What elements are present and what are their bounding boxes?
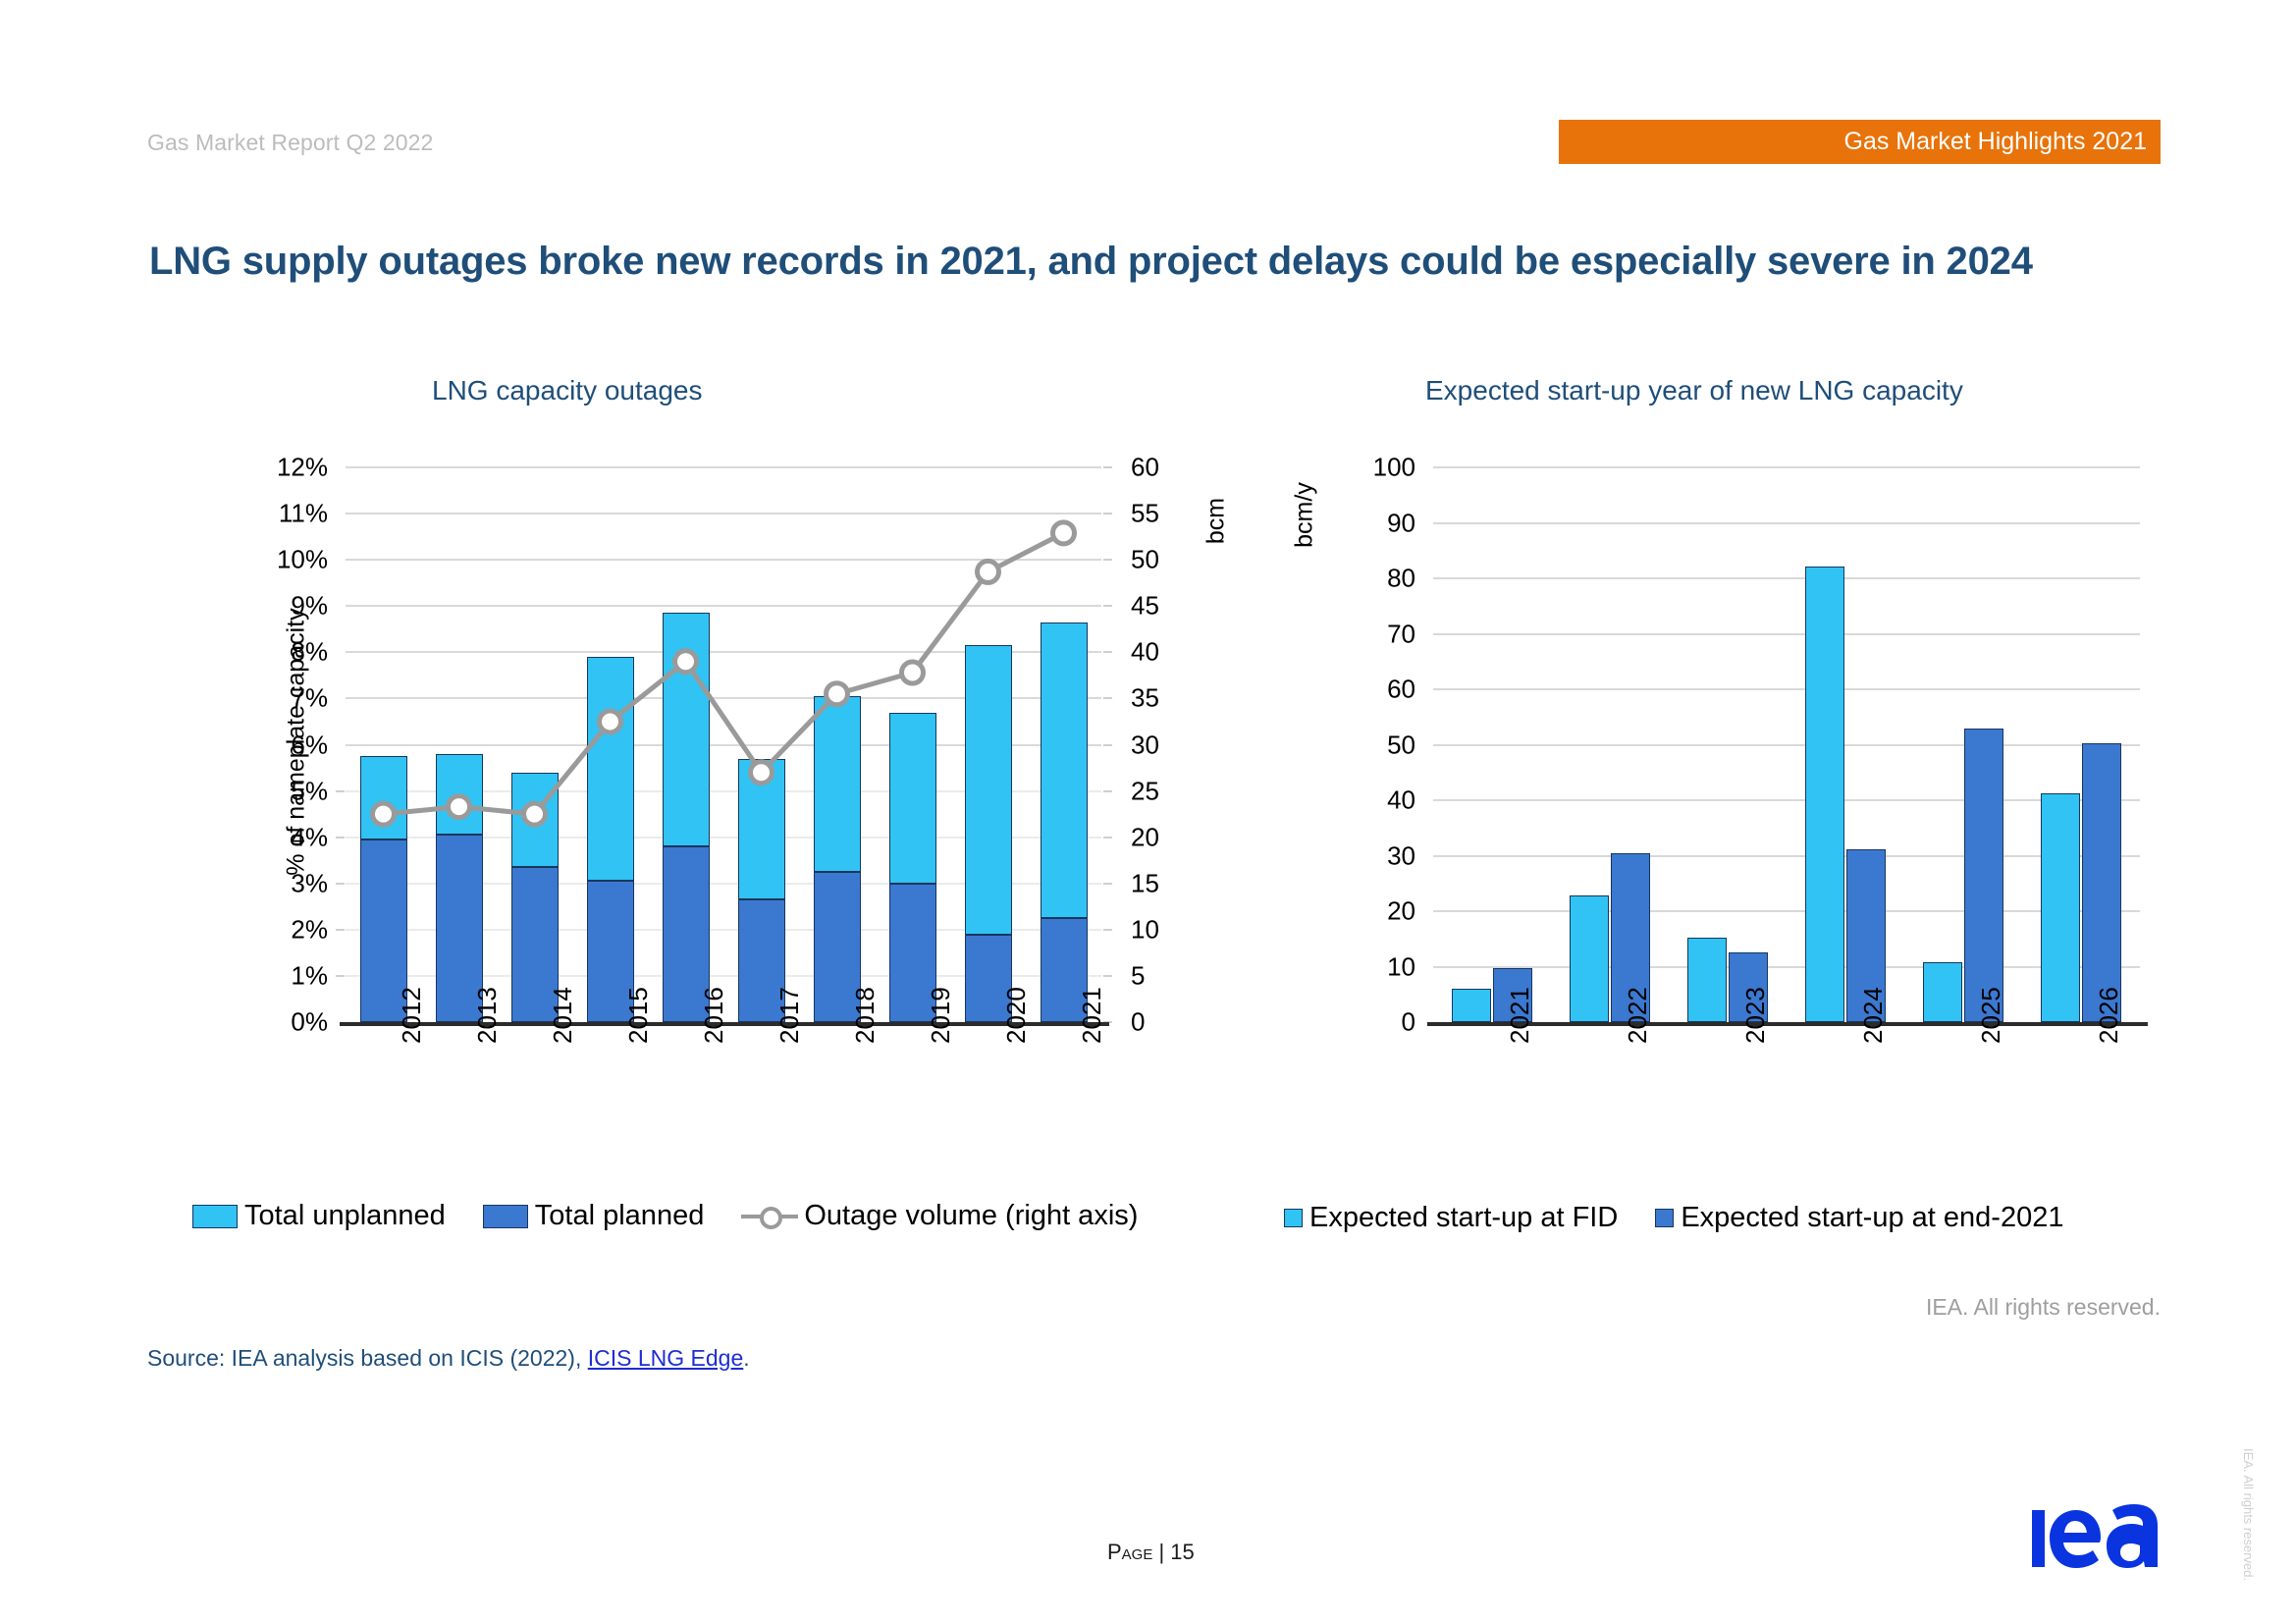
legend-swatch: [1655, 1209, 1674, 1227]
y-axis-tick-label: 90: [1387, 508, 1415, 538]
gridline: [1433, 633, 2140, 635]
legend-label: Total unplanned: [244, 1200, 446, 1232]
y-axis-tick-label: 10: [1387, 951, 1415, 982]
legend-item: Total unplanned: [192, 1200, 446, 1232]
gridline: [1433, 966, 2140, 968]
legend-swatch: [1284, 1209, 1303, 1227]
legend-item: Outage volume (right axis): [741, 1200, 1138, 1232]
rights-notice: IEA. All rights reserved.: [1926, 1294, 2161, 1321]
right-chart-legend: Expected start-up at FIDExpected start-u…: [1284, 1202, 2063, 1234]
bar-startup-at-end-2021: [2082, 743, 2121, 1022]
bar-startup-at-fid: [2041, 793, 2080, 1022]
gridline: [1433, 522, 2140, 524]
expected-startup-chart: 0102030405060708090100bcm/y2021202220232…: [0, 0, 2296, 1624]
bar-startup-at-fid: [1452, 989, 1491, 1022]
y-axis-tick-label: 80: [1387, 564, 1415, 594]
source-suffix: .: [743, 1345, 749, 1371]
bar-startup-at-fid: [1570, 895, 1609, 1022]
legend-item: Expected start-up at end-2021: [1655, 1202, 2063, 1234]
legend-line-marker-icon: [741, 1205, 798, 1228]
x-axis-line: [1427, 1022, 2148, 1026]
y-axis-tick-label: 100: [1373, 453, 1415, 483]
y-axis-tick-label: 60: [1387, 675, 1415, 705]
gridline: [1433, 910, 2140, 912]
gridline: [1433, 466, 2140, 468]
legend-label: Expected start-up at end-2021: [1681, 1202, 2063, 1234]
gridline: [1433, 799, 2140, 801]
legend-label: Expected start-up at FID: [1309, 1202, 1618, 1234]
legend-swatch: [192, 1205, 238, 1228]
source-note: Source: IEA analysis based on ICIS (2022…: [147, 1345, 750, 1372]
page-number: Page | 15: [1107, 1540, 1195, 1565]
x-axis-tick-label: 2025: [1976, 987, 2006, 1044]
legend-label: Outage volume (right axis): [804, 1200, 1138, 1232]
legend-label: Total planned: [535, 1200, 705, 1232]
x-axis-tick-label: 2022: [1623, 987, 1653, 1044]
x-axis-tick-label: 2024: [1858, 987, 1889, 1044]
bar-startup-at-fid: [1687, 938, 1727, 1022]
legend-swatch: [483, 1205, 528, 1228]
x-axis-tick-label: 2026: [2094, 987, 2124, 1044]
bar-startup-at-fid: [1805, 567, 1844, 1022]
y-axis-tick-label: 30: [1387, 840, 1415, 871]
y-axis-title: bcm/y: [1291, 442, 1319, 589]
gridline: [1433, 855, 2140, 857]
left-chart-legend: Total unplannedTotal plannedOutage volum…: [192, 1200, 1138, 1232]
vertical-rights-notice: IEA. All rights reserved.: [2241, 1448, 2256, 1581]
source-prefix: Source: IEA analysis based on ICIS (2022…: [147, 1345, 588, 1371]
bar-startup-at-end-2021: [1964, 729, 2003, 1022]
gridline: [1433, 577, 2140, 579]
gridline: [1433, 744, 2140, 746]
y-axis-tick-label: 20: [1387, 896, 1415, 927]
legend-item: Expected start-up at FID: [1284, 1202, 1618, 1234]
x-axis-tick-label: 2023: [1740, 987, 1771, 1044]
x-axis-tick-label: 2021: [1505, 987, 1535, 1044]
y-axis-tick-label: 50: [1387, 730, 1415, 760]
bar-startup-at-fid: [1923, 962, 1962, 1022]
slide-page: Gas Market Report Q2 2022 Gas Market Hig…: [0, 0, 2296, 1624]
y-axis-tick-label: 0: [1402, 1007, 1415, 1038]
source-link[interactable]: ICIS LNG Edge: [588, 1345, 744, 1371]
iea-logo: [2030, 1504, 2158, 1573]
legend-item: Total planned: [483, 1200, 705, 1232]
gridline: [1433, 688, 2140, 690]
y-axis-tick-label: 40: [1387, 785, 1415, 816]
y-axis-tick-label: 70: [1387, 619, 1415, 649]
